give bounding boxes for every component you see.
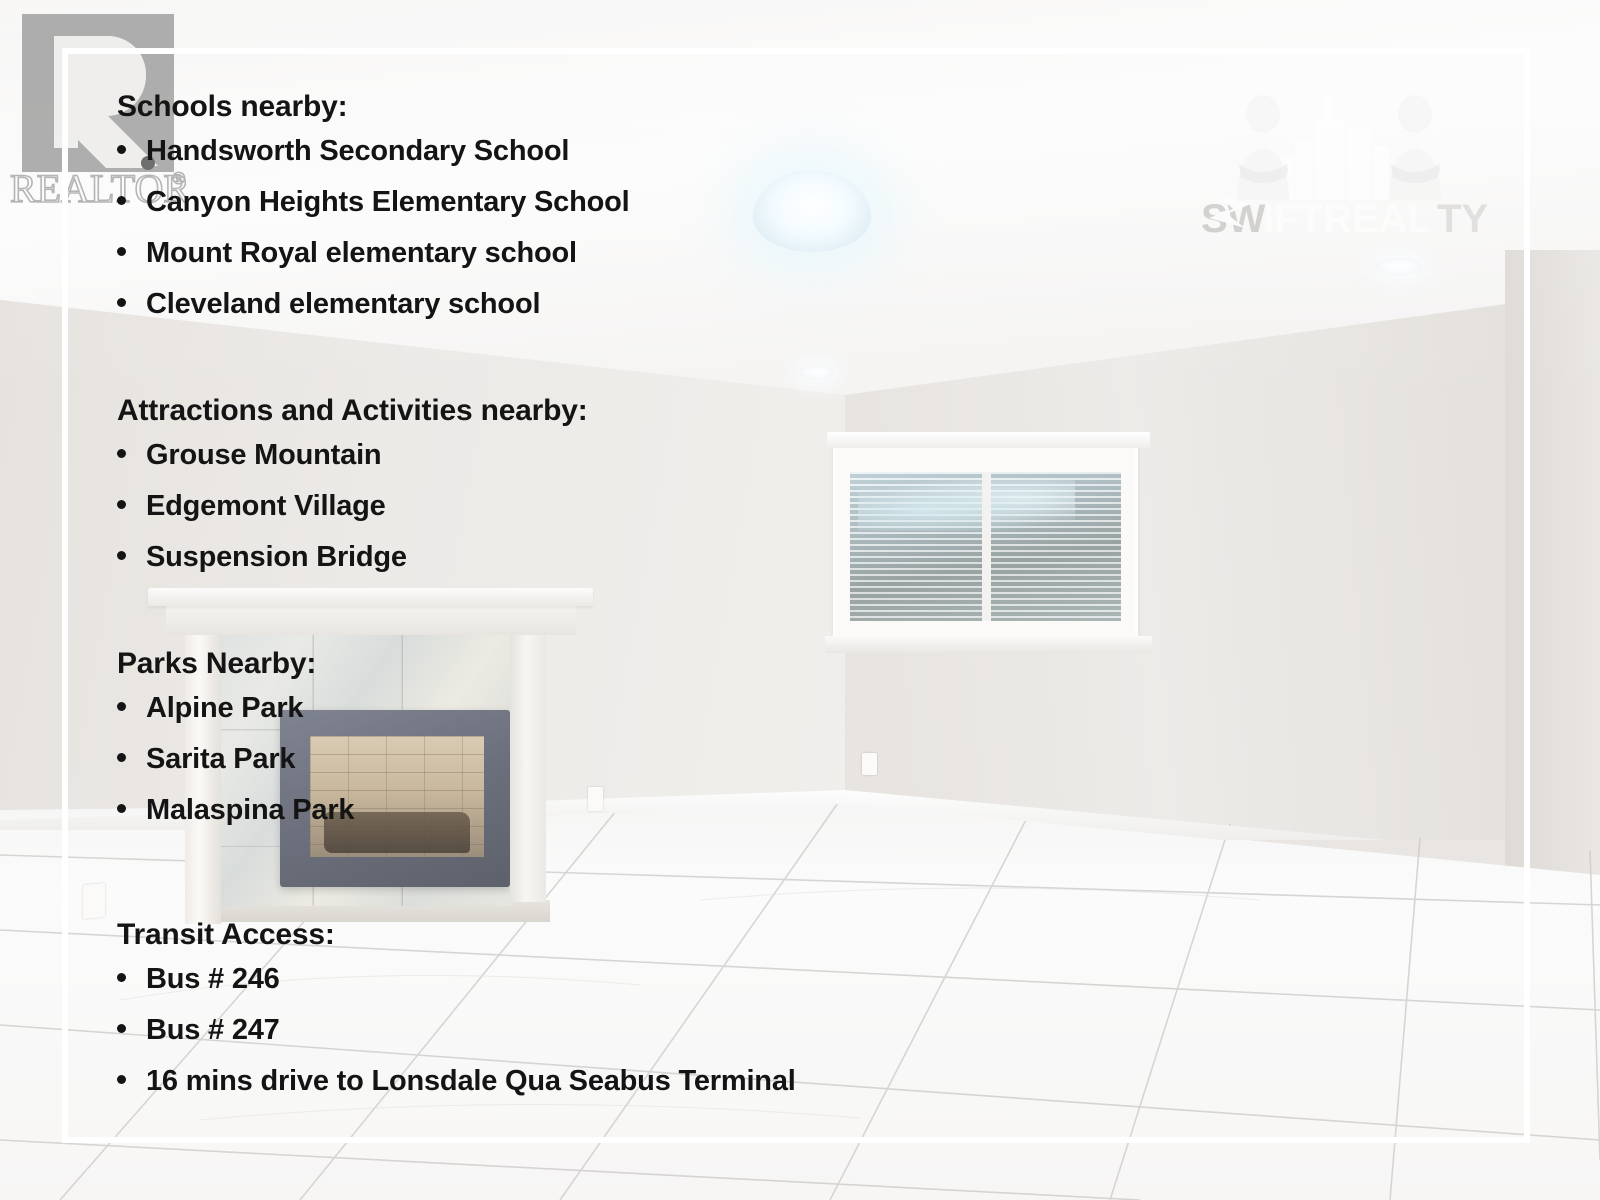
bullet-icon: [117, 247, 126, 256]
list-item: Cleveland elementary school: [117, 290, 630, 319]
list-item-label: 16 mins drive to Lonsdale Qua Seabus Ter…: [146, 1067, 796, 1096]
bullet-icon: [117, 196, 126, 205]
list-item-label: Sarita Park: [146, 745, 295, 774]
section-parks: Parks Nearby: Alpine Park Sarita Park Ma…: [117, 647, 354, 847]
list-item-label: Edgemont Village: [146, 492, 386, 521]
window-mullion: [982, 472, 991, 621]
list-item: Bus # 247: [117, 1016, 796, 1045]
section-attractions: Attractions and Activities nearby: Grous…: [117, 394, 588, 594]
bullet-icon: [117, 449, 126, 458]
list-item-label: Handsworth Secondary School: [146, 137, 569, 166]
list-item: Grouse Mountain: [117, 441, 588, 470]
window-trim-top: [827, 432, 1150, 448]
wall-outlet: [83, 883, 105, 919]
bullet-icon: [117, 1024, 126, 1033]
bullet-icon: [117, 973, 126, 982]
bullet-icon: [117, 753, 126, 762]
list-item-label: Cleveland elementary school: [146, 290, 540, 319]
window: [833, 443, 1138, 640]
list-item-label: Bus # 247: [146, 1016, 280, 1045]
list-item: Bus # 246: [117, 965, 796, 994]
list-item: 16 mins drive to Lonsdale Qua Seabus Ter…: [117, 1067, 796, 1096]
bullet-icon: [117, 500, 126, 509]
bullet-icon: [117, 804, 126, 813]
list-item-label: Canyon Heights Elementary School: [146, 188, 630, 217]
list-item-label: Malaspina Park: [146, 796, 354, 825]
bullet-icon: [117, 1075, 126, 1084]
bullet-icon: [117, 145, 126, 154]
far-right-wall: [1505, 250, 1600, 950]
list-item-label: Grouse Mountain: [146, 441, 381, 470]
list-attractions: Grouse Mountain Edgemont Village Suspens…: [117, 441, 588, 572]
list-transit: Bus # 246 Bus # 247 16 mins drive to Lon…: [117, 965, 796, 1096]
list-item: Malaspina Park: [117, 796, 354, 825]
list-item-label: Mount Royal elementary school: [146, 239, 577, 268]
list-item: Suspension Bridge: [117, 543, 588, 572]
section-heading-schools: Schools nearby:: [117, 90, 630, 123]
section-heading-parks: Parks Nearby:: [117, 647, 354, 680]
list-item-label: Suspension Bridge: [146, 543, 407, 572]
list-item: Sarita Park: [117, 745, 354, 774]
list-item: Alpine Park: [117, 694, 354, 723]
list-item-label: Alpine Park: [146, 694, 303, 723]
section-schools: Schools nearby: Handsworth Secondary Sch…: [117, 90, 630, 341]
bullet-icon: [117, 298, 126, 307]
list-item: Canyon Heights Elementary School: [117, 188, 630, 217]
section-heading-transit: Transit Access:: [117, 918, 796, 951]
list-parks: Alpine Park Sarita Park Malaspina Park: [117, 694, 354, 825]
list-schools: Handsworth Secondary School Canyon Heigh…: [117, 137, 630, 319]
fireplace-right-column: [510, 634, 546, 902]
wall-outlet: [862, 753, 877, 775]
list-item-label: Bus # 246: [146, 965, 280, 994]
fireplace-mantel-apron: [166, 605, 576, 635]
section-heading-attractions: Attractions and Activities nearby:: [117, 394, 588, 427]
list-item: Edgemont Village: [117, 492, 588, 521]
bullet-icon: [117, 551, 126, 560]
section-transit: Transit Access: Bus # 246 Bus # 247 16 m…: [117, 918, 796, 1118]
recessed-pot-light-icon: [1376, 258, 1422, 275]
list-item: Mount Royal elementary school: [117, 239, 630, 268]
list-item: Handsworth Secondary School: [117, 137, 630, 166]
bullet-icon: [117, 702, 126, 711]
recessed-pot-light-icon: [800, 366, 834, 379]
window-sill: [825, 636, 1152, 653]
window-foliage-reflection: [858, 480, 1075, 531]
wall-outlet: [588, 787, 603, 811]
